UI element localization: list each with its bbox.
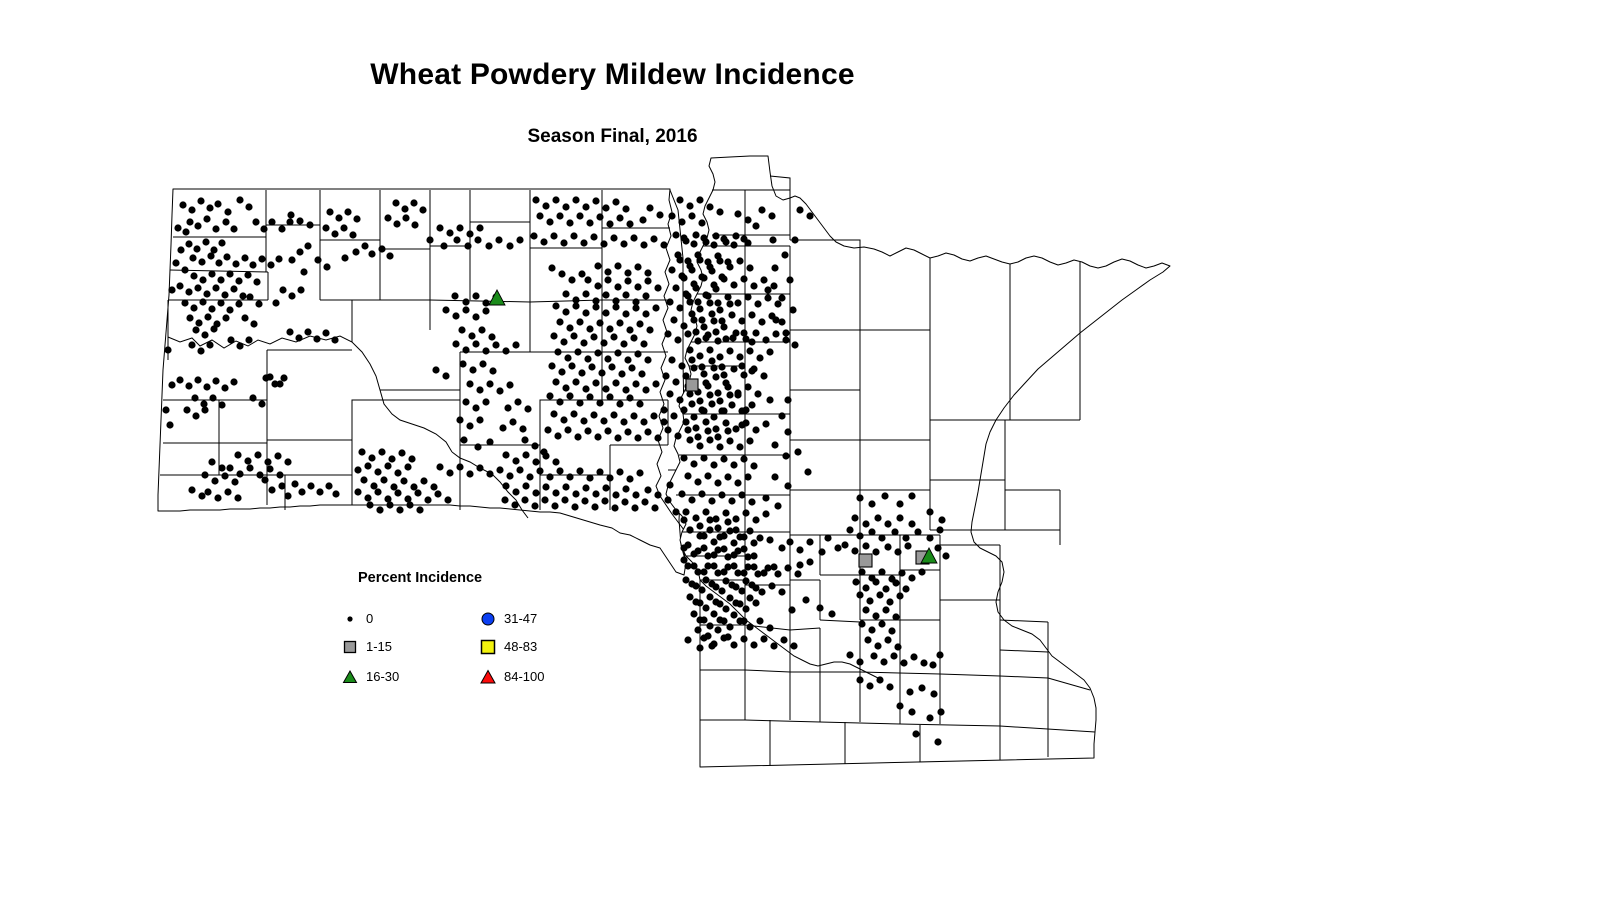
gray-square-marker-nd: [686, 379, 698, 391]
gray-square-marker-mn-west: [859, 554, 872, 567]
legend-label-16-30: 16-30: [366, 669, 399, 684]
small-black-dot-icon: [340, 609, 360, 629]
green-triangle-icon: [340, 667, 360, 687]
legend-label-84-100: 84-100: [504, 669, 544, 684]
legend-title: Percent Incidence: [358, 570, 482, 586]
map-figure: Wheat Powdery Mildew Incidence Season Fi…: [0, 0, 1612, 900]
red-triangle-icon: [478, 667, 498, 687]
map-svg: [0, 0, 1612, 900]
yellow-square-icon: [478, 637, 498, 657]
gray-square-icon: [340, 637, 360, 657]
legend-label-1-15: 1-15: [366, 639, 392, 654]
legend: Percent Incidence 0 1-15 16-30 31-47: [340, 565, 640, 700]
map-canvas: [0, 0, 1612, 900]
legend-label-31-47: 31-47: [504, 611, 537, 626]
blue-circle-icon: [478, 609, 498, 629]
legend-label-48-83: 48-83: [504, 639, 537, 654]
legend-label-0: 0: [366, 611, 373, 626]
